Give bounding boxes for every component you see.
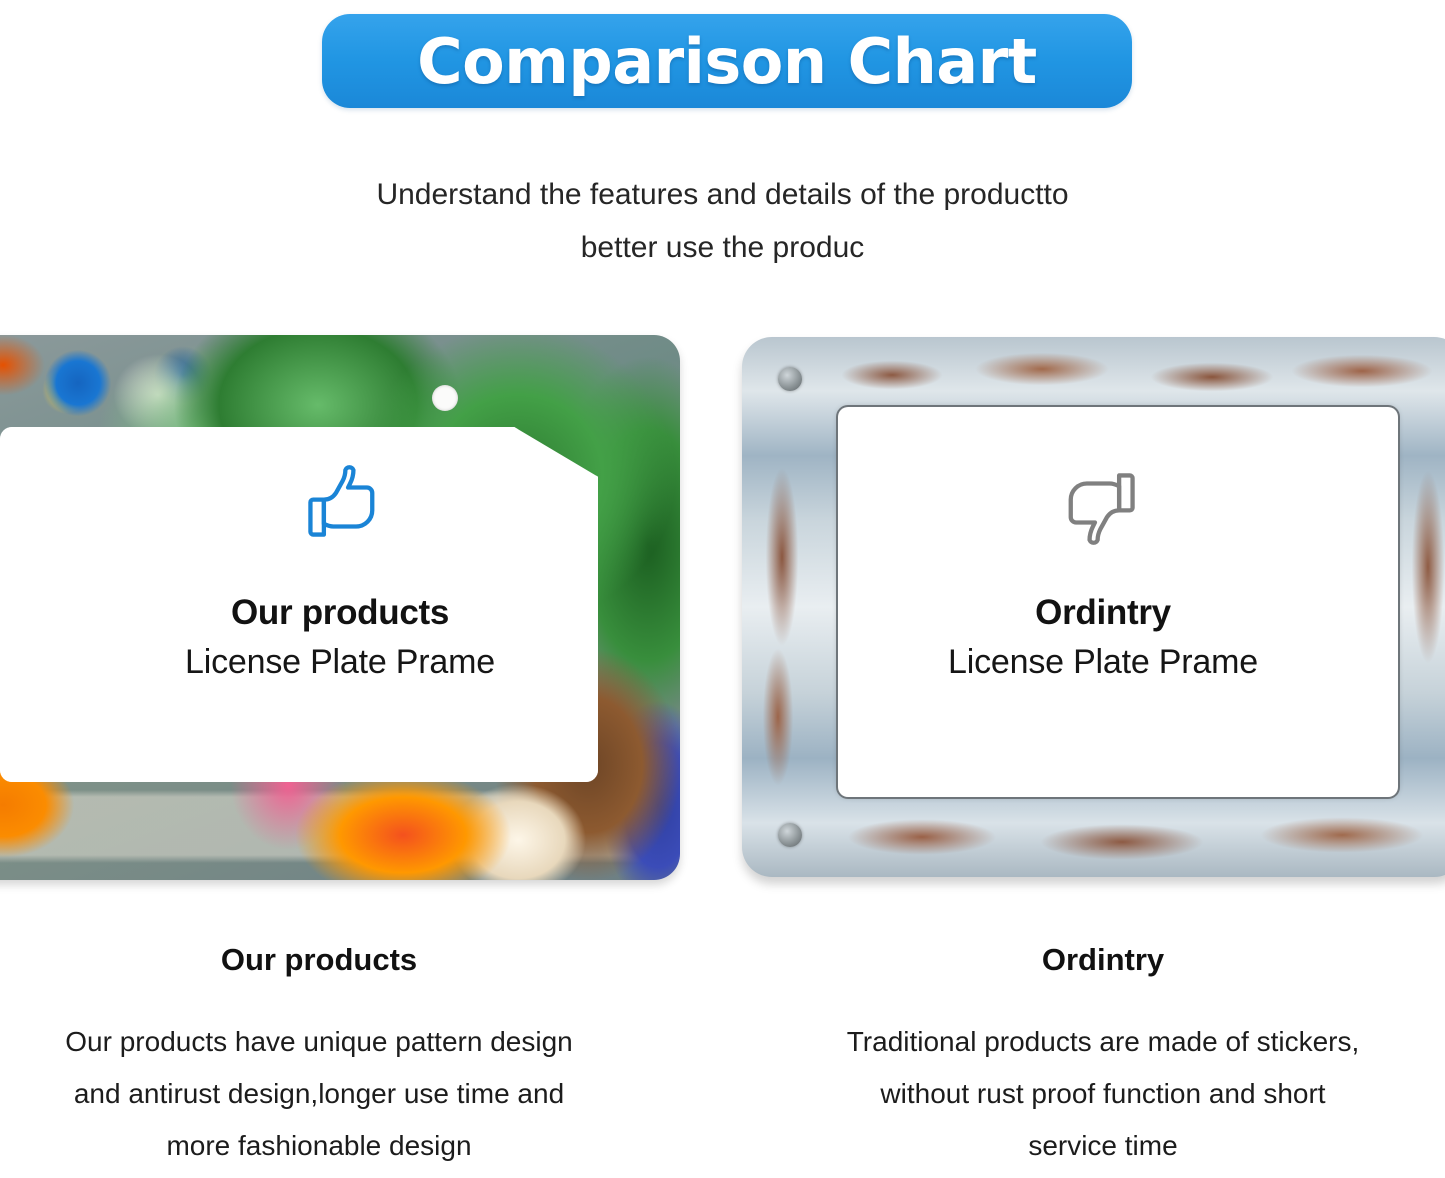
caption-body-ordinary: Traditional products are made of sticker…	[742, 1016, 1445, 1172]
panel-ordinary: Ordintry License Plate Prame Ordintry Tr…	[742, 332, 1445, 1178]
tropical-license-plate-frame	[0, 335, 680, 880]
subtitle-line-1: Understand the features and details of t…	[0, 168, 1445, 221]
caption-line: without rust proof function and short	[742, 1068, 1445, 1120]
caption-title-our-products: Our products	[0, 942, 680, 978]
caption-line: more fashionable design	[0, 1120, 680, 1172]
caption-title-ordinary: Ordintry	[742, 942, 1445, 978]
screw-icon-top-left	[778, 367, 802, 391]
rusty-license-plate-frame	[742, 337, 1445, 877]
panel-our-products: Our products License Plate Prame Our pro…	[0, 332, 680, 1178]
page-subtitle: Understand the features and details of t…	[0, 168, 1445, 274]
caption-body-our-products: Our products have unique pattern design …	[0, 1016, 680, 1172]
caption-line: and antirust design,longer use time and	[0, 1068, 680, 1120]
product-image-ordinary: Ordintry License Plate Prame	[742, 332, 1445, 894]
screw-hole-icon	[432, 385, 458, 411]
subtitle-line-2: better use the produc	[0, 221, 1445, 274]
caption-ordinary: Ordintry Traditional products are made o…	[742, 942, 1445, 1172]
frame-window	[0, 427, 598, 782]
screw-icon-bottom-left	[778, 823, 802, 847]
page-title: Comparison Chart	[417, 25, 1037, 98]
frame-window	[838, 407, 1398, 797]
product-image-our-products: Our products License Plate Prame	[0, 332, 680, 894]
caption-our-products: Our products Our products have unique pa…	[0, 942, 680, 1172]
comparison-panels: Our products License Plate Prame Our pro…	[0, 332, 1445, 1178]
caption-line: Traditional products are made of sticker…	[742, 1016, 1445, 1068]
caption-line: service time	[742, 1120, 1445, 1172]
title-banner: Comparison Chart	[322, 14, 1132, 108]
caption-line: Our products have unique pattern design	[0, 1016, 680, 1068]
